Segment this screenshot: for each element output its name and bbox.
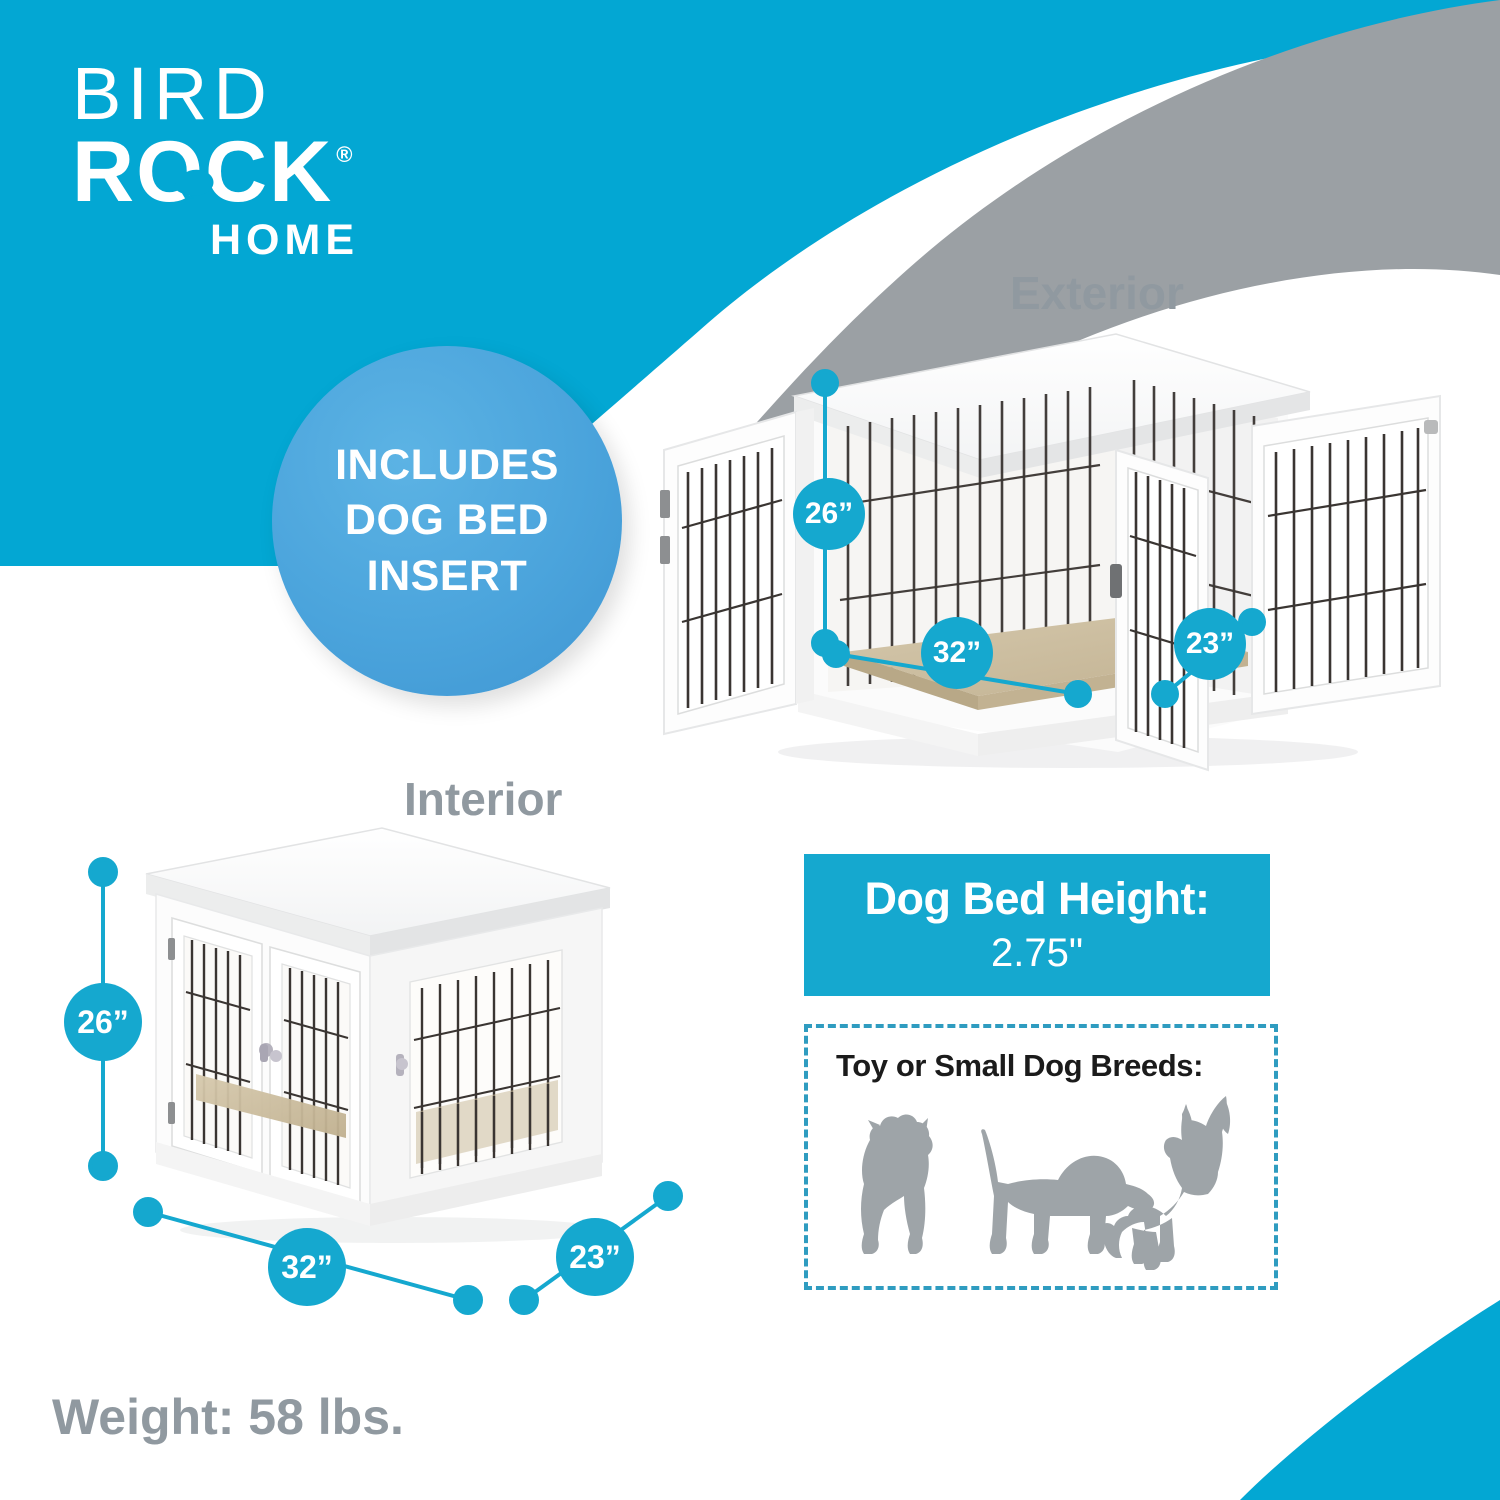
interior-front-right-door <box>270 947 360 1204</box>
brand-logo: BIRD ROCK ® HOME <box>72 60 402 262</box>
exterior-width-callout: 32” <box>921 617 993 689</box>
dog-bed-height-title: Dog Bed Height: <box>865 875 1210 922</box>
infographic-canvas: BIRD ROCK ® HOME INCLUDES DOG BED INSERT… <box>0 0 1500 1500</box>
registered-mark: ® <box>336 142 352 168</box>
interior-depth-callout: 23” <box>556 1218 634 1296</box>
dog-silhouettes <box>818 1088 1264 1274</box>
exterior-left-door-leaf2 <box>796 408 814 704</box>
logo-bird-text: BIRD <box>72 60 402 128</box>
logo-rock-row: ROCK ® <box>72 132 402 213</box>
exterior-left-door <box>660 412 796 734</box>
toy-small-breeds-box: Toy or Small Dog Breeds: <box>804 1024 1278 1290</box>
interior-side-wire-panel <box>396 950 562 1178</box>
exterior-crate-image <box>648 300 1458 780</box>
interior-crate-image <box>110 812 680 1252</box>
badge-label: INCLUDES DOG BED INSERT <box>335 438 559 603</box>
interior-height-callout: 26” <box>64 983 142 1061</box>
product-weight-text: Weight: 58 lbs. <box>52 1388 404 1446</box>
logo-rock-text: ROCK <box>72 132 333 213</box>
interior-width-callout: 32” <box>268 1228 346 1306</box>
bird-icon <box>164 154 220 206</box>
includes-dog-bed-badge: INCLUDES DOG BED INSERT <box>272 346 622 696</box>
exterior-right-outer-door <box>1252 396 1440 714</box>
exterior-depth-callout: 23” <box>1174 608 1246 680</box>
dachshund-icon <box>981 1129 1154 1254</box>
breeds-title: Toy or Small Dog Breeds: <box>836 1048 1203 1084</box>
dog-bed-height-value: 2.75" <box>991 931 1083 975</box>
logo-home-text: HOME <box>210 219 402 262</box>
exterior-height-callout: 26” <box>793 478 865 550</box>
dog-bed-height-panel: Dog Bed Height: 2.75" <box>804 854 1270 996</box>
interior-front-left-door <box>168 918 262 1174</box>
exterior-right-front-door <box>1110 450 1208 770</box>
terrier-sitting-icon <box>861 1115 933 1254</box>
